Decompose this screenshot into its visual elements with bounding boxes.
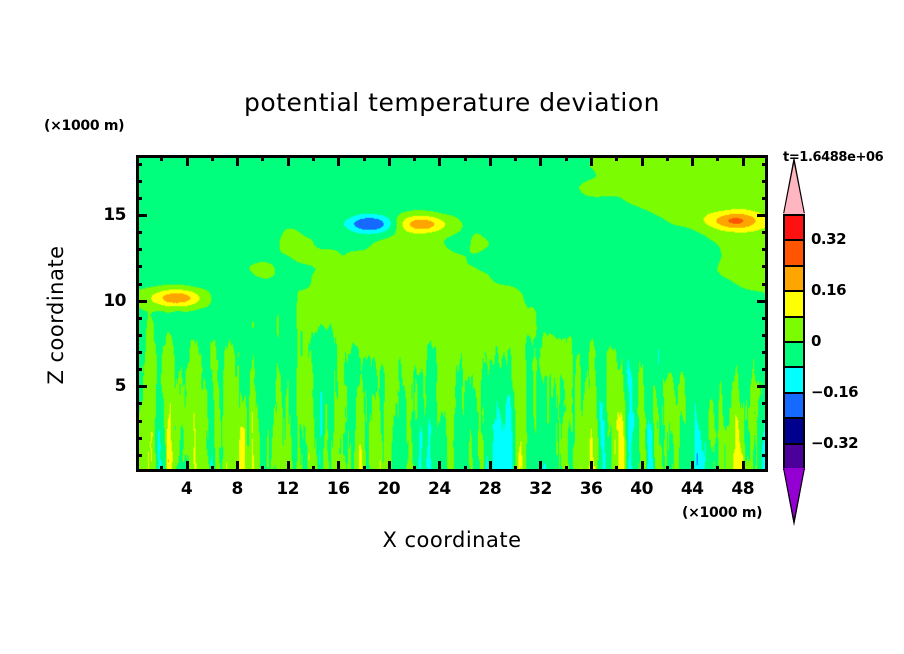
colorbar: 0.320.160−0.16−0.32 <box>783 214 805 468</box>
y-tick-right-10 <box>757 300 768 303</box>
colorbar-band-0 <box>783 214 805 241</box>
y-tick-label-15: 15 <box>86 205 126 225</box>
x-tick-top-20 <box>388 155 391 166</box>
x-tick-48 <box>742 461 745 472</box>
y-tick-right-7 <box>762 351 768 354</box>
colorbar-band-9 <box>783 443 805 470</box>
y-tick-right-17 <box>762 180 768 183</box>
x-tick-top-10 <box>261 155 264 161</box>
y-tick-2 <box>136 437 142 440</box>
y-tick-1 <box>136 454 142 457</box>
y-tick-13 <box>136 248 142 251</box>
x-tick-label-24: 24 <box>419 479 459 499</box>
x-tick-label-16: 16 <box>318 479 358 499</box>
x-tick-28 <box>489 461 492 472</box>
x-tick-top-14 <box>312 155 315 161</box>
time-annotation: t=1.6488e+06 <box>783 150 883 165</box>
y-tick-11 <box>136 283 142 286</box>
x-tick-label-8: 8 <box>217 479 257 499</box>
y-tick-right-6 <box>762 368 768 371</box>
y-tick-label-10: 10 <box>86 291 126 311</box>
colorbar-band-4 <box>783 316 805 343</box>
x-tick-top-6 <box>211 155 214 161</box>
x-tick-top-28 <box>489 155 492 166</box>
y-tick-right-11 <box>762 283 768 286</box>
colorbar-band-7 <box>783 392 805 419</box>
x-tick-label-44: 44 <box>672 479 712 499</box>
y-tick-6 <box>136 368 142 371</box>
x-tick-label-40: 40 <box>622 479 662 499</box>
y-tick-right-9 <box>762 317 768 320</box>
x-tick-top-24 <box>438 155 441 166</box>
y-tick-right-5 <box>757 385 768 388</box>
x-tick-10 <box>261 466 264 472</box>
x-tick-top-38 <box>615 155 618 161</box>
x-tick-label-32: 32 <box>520 479 560 499</box>
colorbar-band-2 <box>783 265 805 292</box>
y-tick-4 <box>136 402 142 405</box>
x-tick-label-4: 4 <box>167 479 207 499</box>
x-tick-top-36 <box>590 155 593 166</box>
x-tick-40 <box>641 461 644 472</box>
x-tick-label-28: 28 <box>470 479 510 499</box>
x-tick-8 <box>236 461 239 472</box>
x-tick-36 <box>590 461 593 472</box>
y-axis-title: Z coordinate <box>44 215 68 415</box>
x-tick-top-40 <box>641 155 644 166</box>
x-tick-top-48 <box>742 155 745 166</box>
x-tick-30 <box>514 466 517 472</box>
y-tick-right-16 <box>762 197 768 200</box>
x-tick-44 <box>691 461 694 472</box>
y-tick-right-8 <box>762 334 768 337</box>
y-tick-right-2 <box>762 437 768 440</box>
x-tick-label-48: 48 <box>723 479 763 499</box>
colorbar-label-3: −0.16 <box>811 383 858 401</box>
x-tick-18 <box>363 466 366 472</box>
y-tick-right-12 <box>762 265 768 268</box>
x-tick-6 <box>211 466 214 472</box>
y-tick-17 <box>136 180 142 183</box>
y-tick-right-14 <box>762 231 768 234</box>
x-tick-top-32 <box>539 155 542 166</box>
y-tick-right-15 <box>757 214 768 217</box>
colorbar-band-8 <box>783 417 805 444</box>
x-tick-12 <box>287 461 290 472</box>
x-tick-32 <box>539 461 542 472</box>
y-tick-8 <box>136 334 142 337</box>
x-tick-top-4 <box>186 155 189 166</box>
x-tick-top-16 <box>337 155 340 166</box>
x-tick-label-20: 20 <box>369 479 409 499</box>
colorbar-label-2: 0 <box>811 332 821 350</box>
x-tick-38 <box>615 466 618 472</box>
y-tick-right-3 <box>762 420 768 423</box>
x-tick-24 <box>438 461 441 472</box>
y-tick-18 <box>136 163 142 166</box>
colorbar-band-5 <box>783 341 805 368</box>
x-tick-34 <box>565 466 568 472</box>
colorbar-band-6 <box>783 366 805 393</box>
x-tick-2 <box>160 466 163 472</box>
x-tick-top-44 <box>691 155 694 166</box>
y-tick-12 <box>136 265 142 268</box>
y-tick-right-4 <box>762 402 768 405</box>
x-tick-top-26 <box>464 155 467 161</box>
x-tick-label-36: 36 <box>571 479 611 499</box>
x-tick-top-42 <box>666 155 669 161</box>
x-tick-top-8 <box>236 155 239 166</box>
x-axis-title: X coordinate <box>0 528 904 552</box>
y-tick-right-13 <box>762 248 768 251</box>
y-tick-9 <box>136 317 142 320</box>
colorbar-label-4: −0.32 <box>811 434 858 452</box>
y-tick-14 <box>136 231 142 234</box>
y-tick-15 <box>136 214 147 217</box>
x-tick-top-30 <box>514 155 517 161</box>
y-tick-right-18 <box>762 163 768 166</box>
y-axis-unit-label: (×1000 m) <box>44 118 124 134</box>
y-tick-3 <box>136 420 142 423</box>
x-tick-22 <box>413 466 416 472</box>
x-tick-42 <box>666 466 669 472</box>
y-tick-7 <box>136 351 142 354</box>
colorbar-band-1 <box>783 239 805 266</box>
x-tick-top-22 <box>413 155 416 161</box>
x-tick-top-2 <box>160 155 163 161</box>
y-tick-right-1 <box>762 454 768 457</box>
x-tick-26 <box>464 466 467 472</box>
temperature-deviation-field <box>139 158 765 469</box>
colorbar-label-0: 0.32 <box>811 230 846 248</box>
colorbar-label-1: 0.16 <box>811 281 846 299</box>
x-tick-top-46 <box>716 155 719 161</box>
colorbar-band-3 <box>783 290 805 317</box>
x-tick-16 <box>337 461 340 472</box>
chart-title: potential temperature deviation <box>0 88 904 117</box>
x-tick-top-18 <box>363 155 366 161</box>
x-tick-top-12 <box>287 155 290 166</box>
colorbar-cap-bottom <box>783 468 805 526</box>
x-tick-20 <box>388 461 391 472</box>
x-tick-label-12: 12 <box>268 479 308 499</box>
x-axis-unit-label: (×1000 m) <box>682 505 762 521</box>
y-tick-10 <box>136 300 147 303</box>
x-tick-46 <box>716 466 719 472</box>
y-tick-5 <box>136 385 147 388</box>
y-tick-16 <box>136 197 142 200</box>
x-tick-top-34 <box>565 155 568 161</box>
contour-plot-area <box>136 155 768 472</box>
y-tick-label-5: 5 <box>86 376 126 396</box>
x-tick-4 <box>186 461 189 472</box>
x-tick-14 <box>312 466 315 472</box>
